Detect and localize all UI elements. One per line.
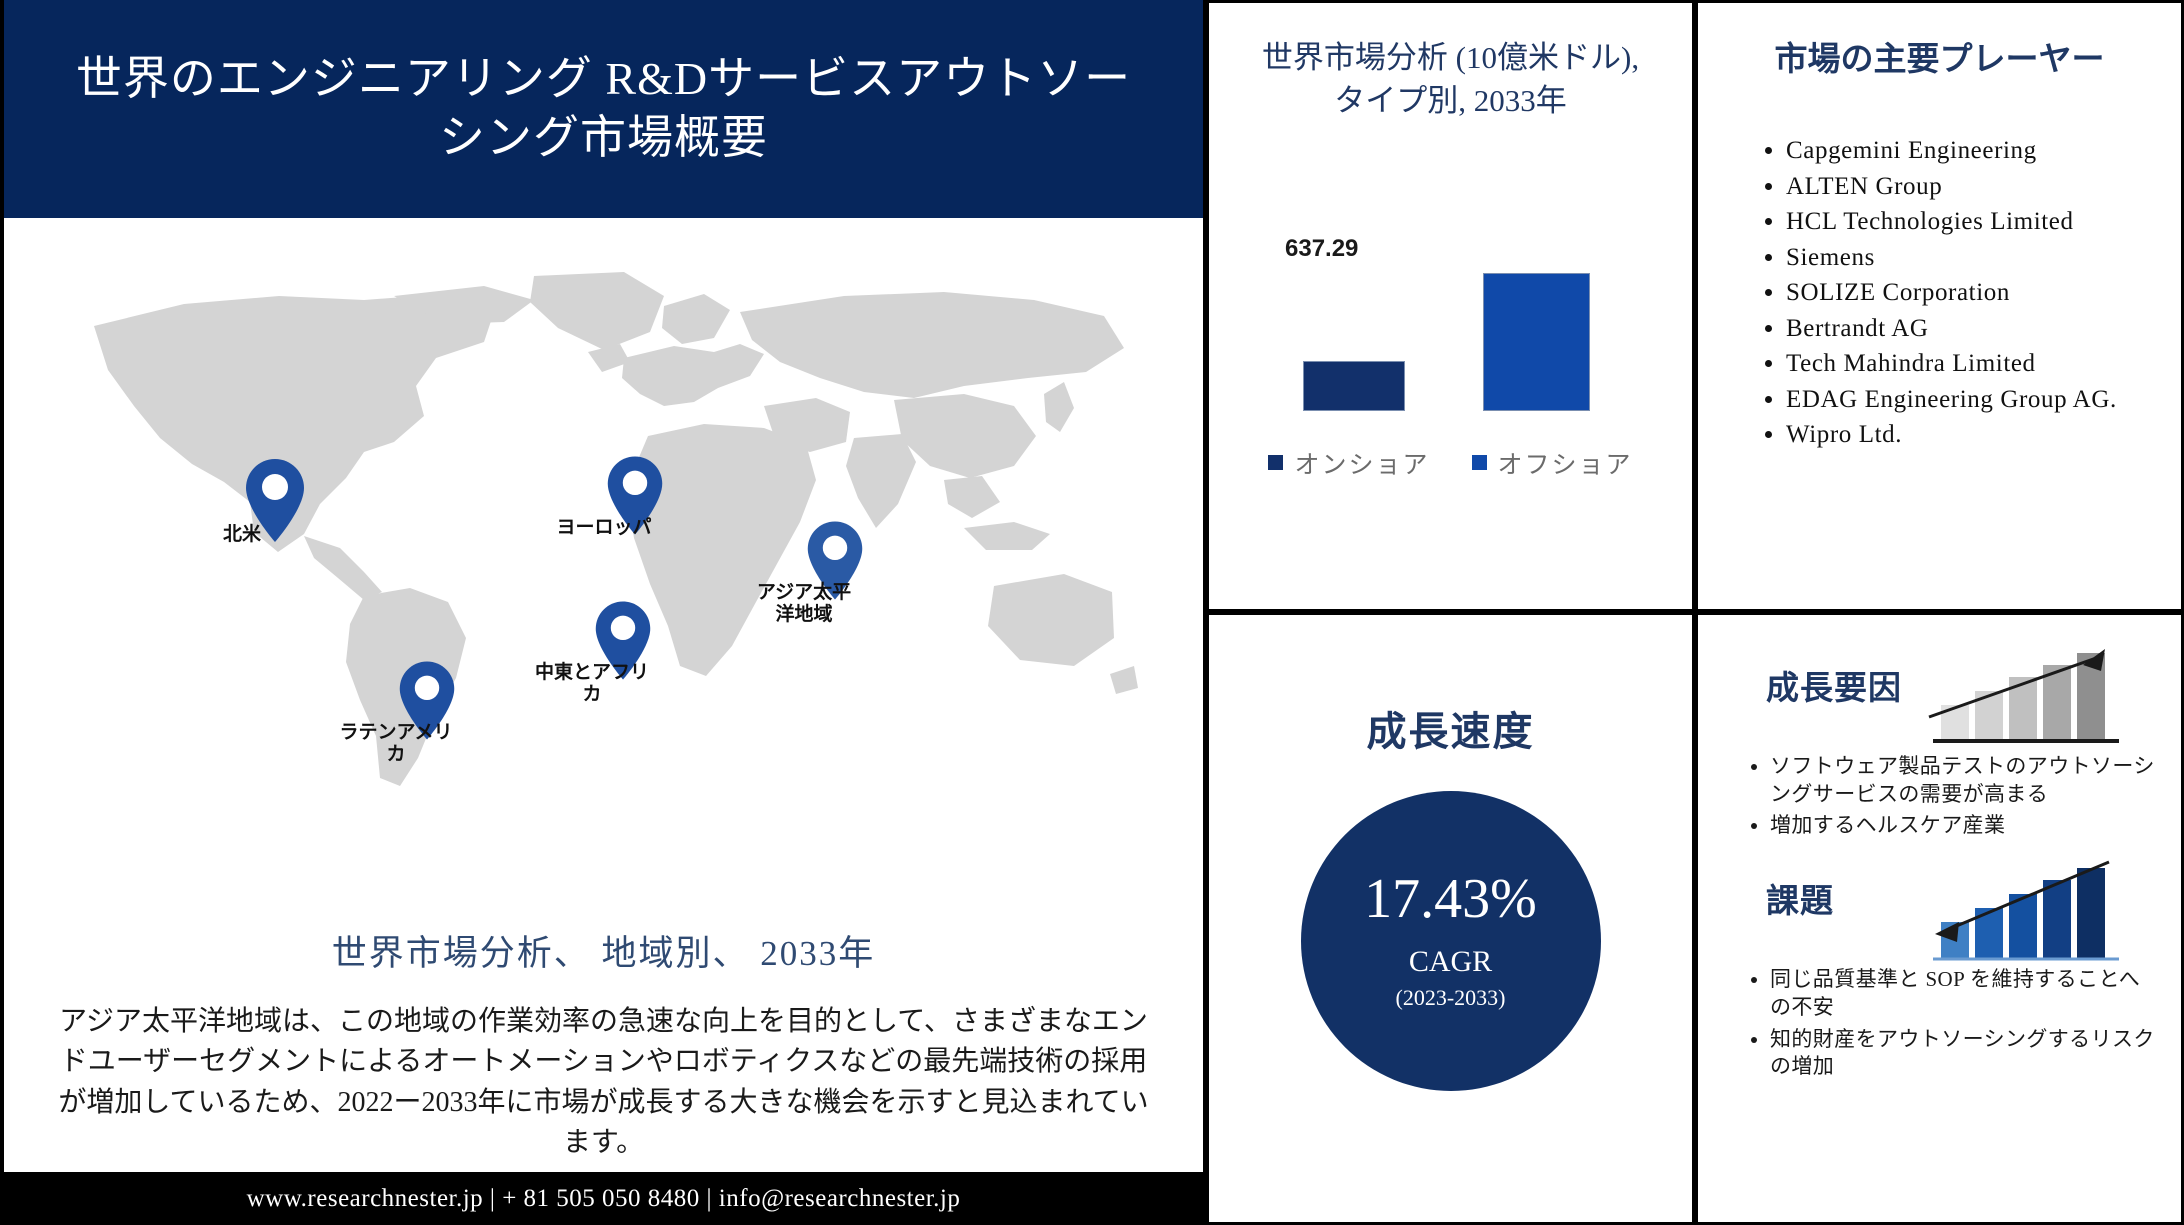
- legend-swatch-onshore: [1268, 455, 1283, 470]
- market-analysis-chart-panel: 世界市場分析 (10億米ドル), タイプ別, 2033年 637.29 オンショ…: [1206, 0, 1695, 612]
- chart-legend: オンショア オフショア: [1235, 445, 1666, 481]
- cagr-label: CAGR: [1409, 945, 1492, 979]
- growth-rate-title: 成長速度: [1367, 699, 1535, 757]
- growth-bar-chart-icon: [1923, 643, 2153, 751]
- list-item: ALTEN Group: [1786, 169, 2151, 205]
- growth-rate-panel: 成長速度 17.43% CAGR (2023-2033): [1206, 612, 1695, 1225]
- list-item: HCL Technologies Limited: [1786, 204, 2151, 240]
- footer-contact-text: www.researchnester.jp | + 81 505 050 848…: [247, 1185, 961, 1213]
- regional-analysis-heading: 世界市場分析、 地域別、 2033年: [4, 925, 1203, 976]
- legend-label-onshore: オンショア: [1294, 445, 1429, 481]
- regional-summary: 世界市場分析、 地域別、 2033年 アジア太平洋地域は、この地域の作業効率の急…: [4, 919, 1203, 1164]
- key-players-list: Capgemini Engineering ALTEN Group HCL Te…: [1728, 133, 2151, 453]
- legend-label-offshore: オフショア: [1498, 445, 1633, 481]
- legend-item-offshore[interactable]: オフショア: [1472, 445, 1633, 481]
- list-item: SOLIZE Corporation: [1786, 275, 2151, 311]
- list-item: Bertrandt AG: [1786, 311, 2151, 347]
- bar-onshore[interactable]: [1303, 361, 1405, 411]
- list-item: 同じ品質基準と SOP を維持することへの不安: [1770, 966, 2159, 1021]
- legend-swatch-offshore: [1472, 455, 1487, 470]
- footer-contact-band: www.researchnester.jp | + 81 505 050 848…: [4, 1172, 1203, 1225]
- right-panels-grid: 世界市場分析 (10億米ドル), タイプ別, 2033年 637.29 オンショ…: [1206, 0, 2184, 1225]
- bar-offshore[interactable]: [1483, 273, 1590, 411]
- world-map-area: 北米 ヨーロッパ アジア太平洋地域: [4, 218, 1203, 1172]
- legend-item-onshore[interactable]: オンショア: [1268, 445, 1429, 481]
- challenges-header: 課題: [1724, 856, 2159, 966]
- key-players-panel: 市場の主要プレーヤー Capgemini Engineering ALTEN G…: [1695, 0, 2184, 612]
- challenges-bar-chart-icon: [1923, 856, 2153, 968]
- list-item: Siemens: [1786, 240, 2151, 276]
- cagr-circle: 17.43% CAGR (2023-2033): [1301, 791, 1601, 1091]
- challenges-list: 同じ品質基準と SOP を維持することへの不安 知的財産をアウトソーシングするリ…: [1724, 966, 2159, 1081]
- page-title: 世界のエンジニアリング R&Dサービスアウトソーシング市場概要: [74, 50, 1133, 168]
- growth-factors-header: 成長要因: [1724, 643, 2159, 753]
- list-item: Tech Mahindra Limited: [1786, 346, 2151, 382]
- cagr-period: (2023-2033): [1396, 985, 1506, 1011]
- map-pin-label-asia-pacific: アジア太平洋地域: [748, 582, 860, 626]
- infographic-root: 世界のエンジニアリング R&Dサービスアウトソーシング市場概要: [0, 0, 2184, 1225]
- map-panel: 世界のエンジニアリング R&Dサービスアウトソーシング市場概要: [0, 0, 1206, 1225]
- bar-value-onshore: 637.29: [1285, 235, 1358, 263]
- key-players-title: 市場の主要プレーヤー: [1728, 37, 2151, 83]
- map-pin-label-europe: ヨーロッパ: [552, 517, 656, 539]
- challenges-title: 課題: [1766, 874, 1834, 922]
- drivers-challenges-panel: 成長要因 ソフトウェア製品テストのアウトソーシングサービスの需要が高まる 増加す…: [1695, 612, 2184, 1225]
- list-item: Wipro Ltd.: [1786, 417, 2151, 453]
- list-item: Capgemini Engineering: [1786, 133, 2151, 169]
- map-pin-label-latin-america: ラテンアメリカ: [338, 722, 454, 766]
- list-item: EDAG Engineering Group AG.: [1786, 382, 2151, 418]
- cagr-value: 17.43%: [1364, 871, 1537, 927]
- map-pin-label-middle-east-africa: 中東とアフリカ: [532, 662, 652, 706]
- title-band: 世界のエンジニアリング R&Dサービスアウトソーシング市場概要: [4, 0, 1203, 218]
- chart-title: 世界市場分析 (10億米ドル), タイプ別, 2033年: [1235, 37, 1666, 123]
- bar-chart: 637.29: [1235, 151, 1666, 411]
- growth-factors-title: 成長要因: [1766, 661, 1902, 709]
- regional-analysis-body: アジア太平洋地域は、この地域の作業効率の急速な向上を目的として、さまざまなエンド…: [4, 1002, 1203, 1164]
- growth-factors-list: ソフトウェア製品テストのアウトソーシングサービスの需要が高まる 増加するヘルスケ…: [1724, 753, 2159, 840]
- list-item: 増加するヘルスケア産業: [1770, 812, 2159, 840]
- list-item: ソフトウェア製品テストのアウトソーシングサービスの需要が高まる: [1770, 753, 2159, 808]
- list-item: 知的財産をアウトソーシングするリスクの増加: [1770, 1026, 2159, 1081]
- map-pin-label-north-america: 北米: [177, 524, 307, 546]
